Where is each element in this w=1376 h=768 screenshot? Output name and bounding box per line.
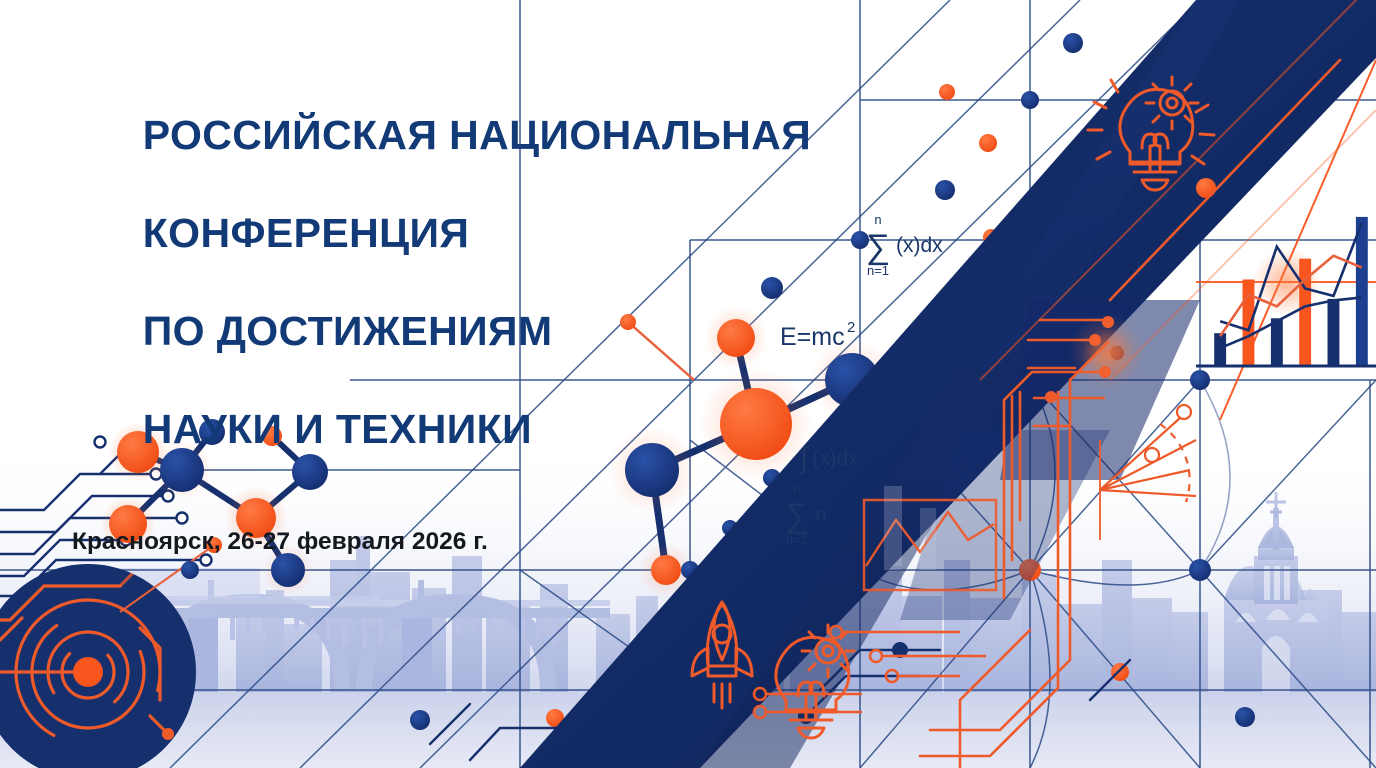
poster-text-block: РОССИЙСКАЯ НАЦИОНАЛЬНАЯ КОНФЕРЕНЦИЯ ПО Д…: [72, 62, 811, 556]
title-line-1: РОССИЙСКАЯ НАЦИОНАЛЬНАЯ: [143, 112, 811, 158]
band-bar: [884, 486, 902, 570]
chart-bar: [1356, 217, 1368, 366]
page-title: РОССИЙСКАЯ НАЦИОНАЛЬНАЯ КОНФЕРЕНЦИЯ ПО Д…: [72, 62, 811, 503]
chart-bar: [1328, 299, 1340, 366]
title-line-4: НАУКИ И ТЕХНИКИ: [143, 406, 532, 452]
svg-text:(x)dx: (x)dx: [812, 447, 859, 470]
accent-glow: [1069, 314, 1145, 390]
svg-text:(x)dx: (x)dx: [896, 234, 943, 257]
node-dot: [1196, 178, 1216, 198]
event-location-date: Красноярск, 26-27 февраля 2026 г.: [72, 503, 811, 556]
svg-text:∑: ∑: [866, 228, 890, 266]
chart-bar: [1243, 280, 1255, 367]
node-dot: [181, 561, 199, 579]
band-bar: [920, 508, 936, 570]
svg-text:n: n: [815, 503, 827, 526]
svg-text:n: n: [874, 212, 881, 227]
chart-bar: [1214, 333, 1226, 366]
title-line-2: КОНФЕРЕНЦИЯ: [143, 210, 469, 256]
chart-bar: [1271, 318, 1283, 366]
conference-poster: n ∑ n=1 (x)dx E=mc 2 ∫ (x)dx n ∑ n=1 n: [0, 0, 1376, 768]
title-line-3: ПО ДОСТИЖЕНИЯМ: [143, 308, 553, 354]
svg-text:2: 2: [847, 319, 855, 336]
svg-text:n=1: n=1: [867, 263, 889, 278]
